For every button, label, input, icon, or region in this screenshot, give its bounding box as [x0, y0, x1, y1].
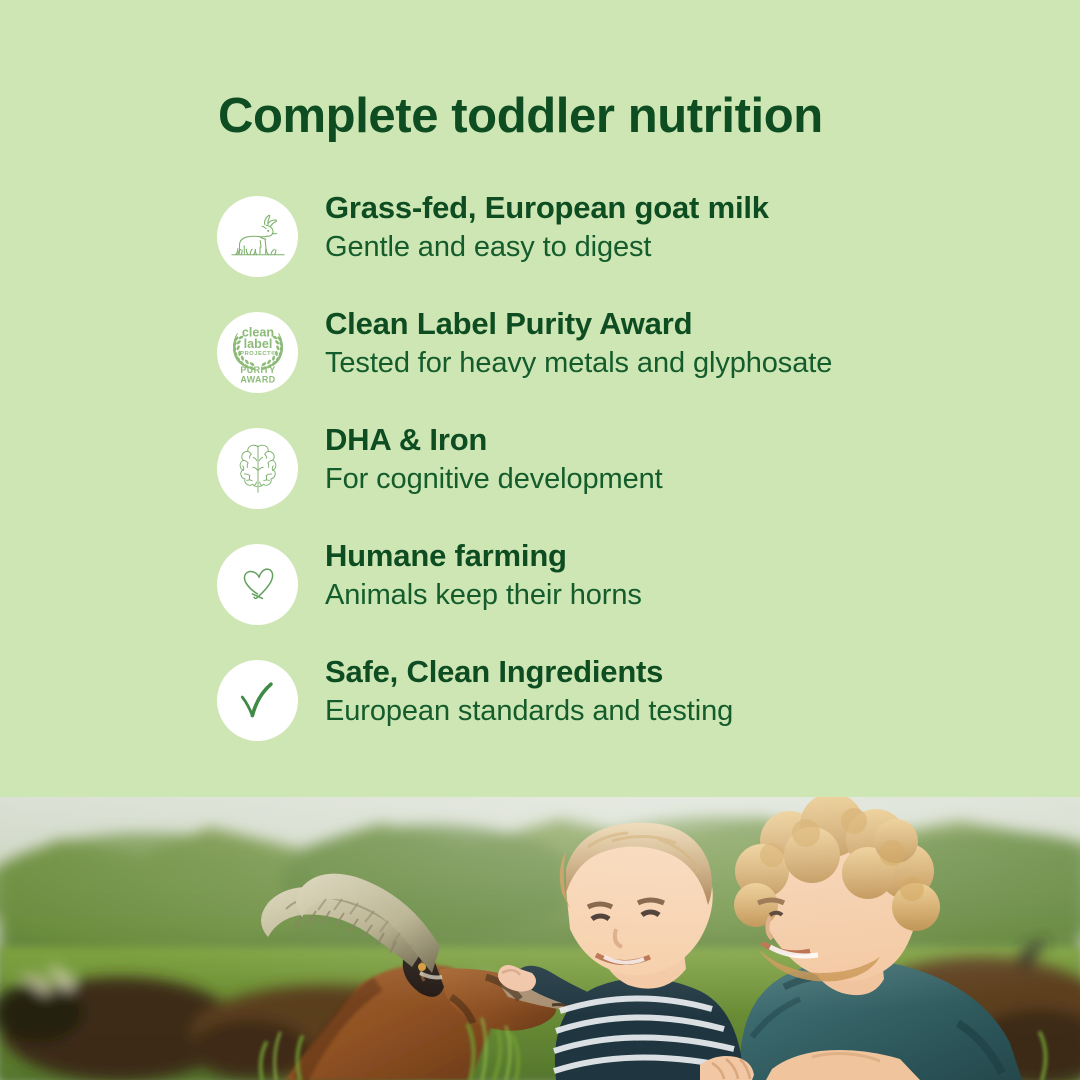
list-item-text: Safe, Clean Ingredients European standar…: [325, 654, 1060, 728]
list-item: Humane farming Animals keep their horns: [0, 544, 1080, 660]
list-item-title: DHA & Iron: [325, 422, 1060, 459]
list-item-subtitle: Tested for heavy metals and glyphosate: [325, 346, 1060, 381]
list-item-text: DHA & Iron For cognitive development: [325, 422, 1060, 496]
list-item: DHA & Iron For cognitive development: [0, 428, 1080, 544]
list-item: Safe, Clean Ingredients European standar…: [0, 660, 1080, 776]
clean-label-purity-award-badge-icon: clean label PROJECT® PURITY AWARD: [217, 312, 298, 393]
list-item-text: Clean Label Purity Award Tested for heav…: [325, 306, 1060, 380]
brain-icon: [217, 428, 298, 509]
list-item-subtitle: Animals keep their horns: [325, 578, 1060, 613]
list-item: Grass-fed, European goat milk Gentle and…: [0, 196, 1080, 312]
list-item: clean label PROJECT® PURITY AWARD: [0, 312, 1080, 428]
benefits-list: Grass-fed, European goat milk Gentle and…: [0, 196, 1080, 776]
list-item-title: Clean Label Purity Award: [325, 306, 1060, 343]
list-item-title: Humane farming: [325, 538, 1060, 575]
list-item-subtitle: European standards and testing: [325, 694, 1060, 729]
list-item-title: Grass-fed, European goat milk: [325, 190, 1060, 227]
checkmark-icon: [217, 660, 298, 741]
promotional-poster: Complete toddler nutrition: [0, 0, 1080, 1080]
page-title: Complete toddler nutrition: [218, 88, 823, 144]
lifestyle-photo: [0, 797, 1080, 1080]
list-item-title: Safe, Clean Ingredients: [325, 654, 1060, 691]
goat-icon: [217, 196, 298, 277]
svg-text:label: label: [243, 336, 272, 350]
list-item-subtitle: Gentle and easy to digest: [325, 230, 1060, 265]
list-item-text: Grass-fed, European goat milk Gentle and…: [325, 190, 1060, 264]
list-item-subtitle: For cognitive development: [325, 462, 1060, 497]
svg-text:PROJECT®: PROJECT®: [240, 350, 276, 357]
list-item-text: Humane farming Animals keep their horns: [325, 538, 1060, 612]
benefits-panel: Complete toddler nutrition: [0, 0, 1080, 797]
svg-text:AWARD: AWARD: [240, 374, 275, 384]
heart-icon: [217, 544, 298, 625]
